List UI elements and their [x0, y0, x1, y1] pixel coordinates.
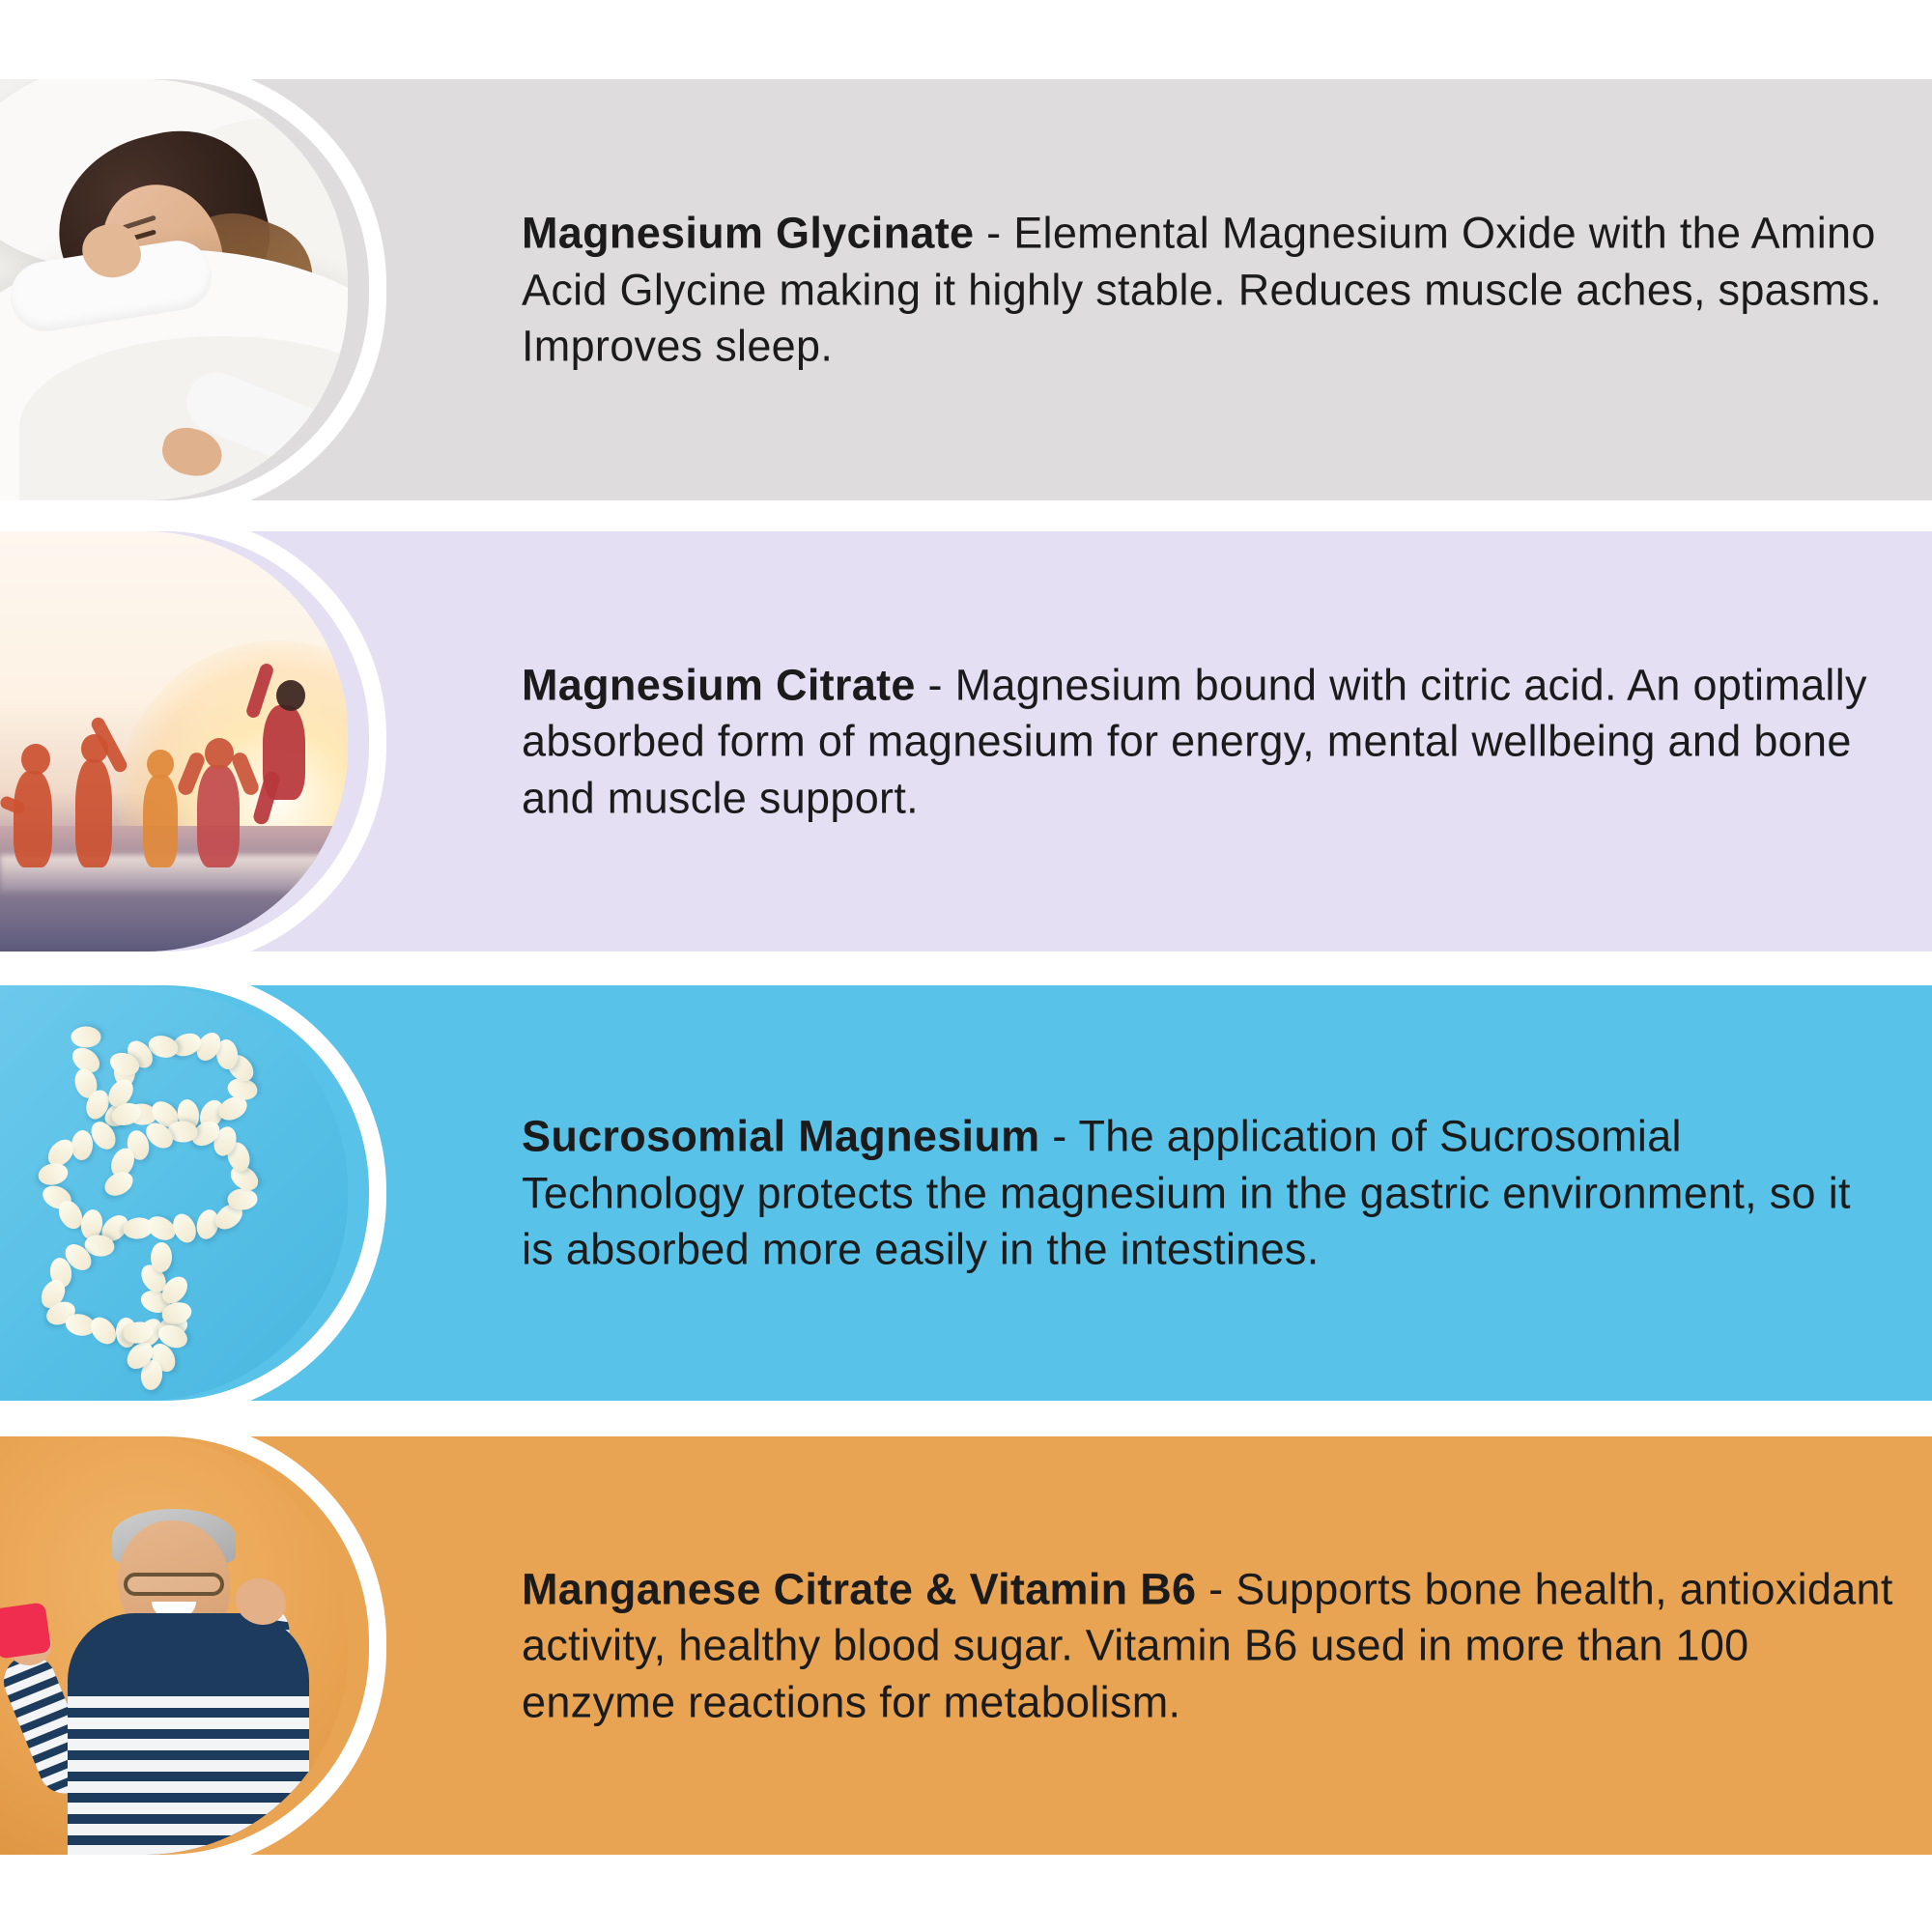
ingredient-description-manganese-citrate-vitamin-b6: Manganese Citrate & Vitamin B6 - Support…: [522, 1561, 1893, 1731]
ingredient-panel-magnesium-citrate: Magnesium Citrate - Magnesium bound with…: [0, 531, 1932, 952]
ingredient-description-sucrosomial-magnesium: Sucrosomial Magnesium - The application …: [522, 1108, 1893, 1278]
ingredient-name: Sucrosomial Magnesium: [522, 1111, 1039, 1160]
ingredient-name: Magnesium Citrate: [522, 660, 916, 709]
photo-pill-intestine: [0, 985, 348, 1401]
ingredient-infographic: Magnesium Glycinate - Elemental Magnesiu…: [0, 0, 1932, 1932]
ingredient-image-magnesium-glycinate: [0, 79, 348, 500]
ingredient-description-magnesium-glycinate: Magnesium Glycinate - Elemental Magnesiu…: [522, 205, 1893, 375]
ingredient-image-sucrosomial-magnesium: [0, 985, 348, 1401]
ingredient-name: Manganese Citrate & Vitamin B6: [522, 1564, 1196, 1613]
photo-sleeping-woman: [0, 79, 348, 500]
ingredient-panel-sucrosomial-magnesium: Sucrosomial Magnesium - The application …: [0, 985, 1932, 1401]
photo-jumping-people: [0, 531, 348, 952]
ingredient-name: Magnesium Glycinate: [522, 208, 974, 257]
photo-flexing-senior-man: [0, 1436, 348, 1855]
ingredient-image-magnesium-citrate: [0, 531, 348, 952]
ingredient-description-magnesium-citrate: Magnesium Citrate - Magnesium bound with…: [522, 657, 1893, 827]
ingredient-image-manganese-citrate-vitamin-b6: [0, 1436, 348, 1855]
ingredient-panel-manganese-citrate-vitamin-b6: Manganese Citrate & Vitamin B6 - Support…: [0, 1436, 1932, 1855]
ingredient-panel-magnesium-glycinate: Magnesium Glycinate - Elemental Magnesiu…: [0, 79, 1932, 500]
